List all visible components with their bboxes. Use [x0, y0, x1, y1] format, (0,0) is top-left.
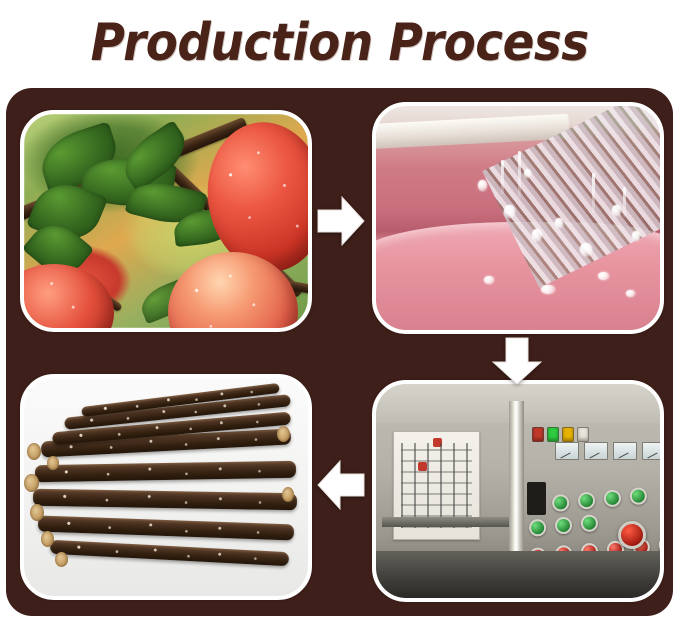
indicator-light-white: [577, 427, 589, 442]
water-streak: [501, 160, 504, 194]
apple-tree-photo: [24, 114, 308, 328]
water-streak: [592, 173, 595, 213]
gauge-meter: [555, 442, 579, 460]
green-push-button[interactable]: [552, 494, 570, 512]
washing-tank-photo: [376, 106, 660, 330]
water-streak: [623, 187, 626, 217]
indicator-light-cluster: [532, 427, 589, 442]
arrow-down-icon: [490, 336, 544, 386]
water-droplet: [632, 231, 640, 241]
green-push-button[interactable]: [629, 487, 647, 505]
water-droplet: [555, 218, 563, 228]
diagram-red-marker: [418, 462, 427, 471]
step-panel-drying-sterilizing-machine[interactable]: [372, 380, 664, 602]
indicator-light-yellow: [562, 427, 574, 442]
water-streak: [518, 151, 521, 197]
water-droplet: [541, 285, 555, 294]
arrow-right-icon: [316, 194, 366, 248]
machine-base: [376, 551, 660, 598]
process-board: [6, 88, 673, 616]
machine-door-post: [509, 401, 523, 568]
indicator-light-green: [547, 427, 559, 442]
stick-cut-end: [30, 504, 44, 521]
green-push-button[interactable]: [529, 518, 547, 536]
water-droplet: [626, 290, 635, 297]
machine-display-screen: [527, 482, 547, 514]
indicator-light-red: [532, 427, 544, 442]
industrial-machine-photo: [376, 384, 660, 598]
green-push-button[interactable]: [603, 489, 621, 507]
step-panel-finished-product[interactable]: [20, 374, 312, 600]
gauge-meter: [613, 442, 637, 460]
green-push-button[interactable]: [581, 514, 599, 532]
title-bar: Production Process: [0, 0, 679, 86]
gauge-meter: [642, 442, 660, 460]
production-process-infographic: Production Process: [0, 0, 679, 638]
gauge-cluster: [555, 442, 660, 460]
water-droplet: [504, 205, 515, 218]
step-panel-raw-material-harvest[interactable]: [20, 110, 312, 332]
machine-rail: [382, 517, 510, 528]
stick-cut-end: [277, 426, 290, 442]
wood-sticks-photo: [24, 378, 308, 596]
stick-cut-end: [41, 531, 54, 547]
green-push-button[interactable]: [555, 516, 573, 534]
step-panel-washing-stage[interactable]: [372, 102, 664, 334]
green-push-button[interactable]: [577, 491, 595, 509]
water-droplet: [598, 272, 609, 280]
arrow-left-icon: [316, 458, 366, 512]
gauge-meter: [584, 442, 608, 460]
diagram-red-marker: [433, 438, 442, 447]
emergency-stop-button[interactable]: [618, 521, 646, 549]
water-droplet: [524, 169, 531, 178]
page-title: Production Process: [90, 17, 588, 69]
water-droplet: [612, 205, 621, 216]
stick-cut-end: [24, 474, 39, 492]
